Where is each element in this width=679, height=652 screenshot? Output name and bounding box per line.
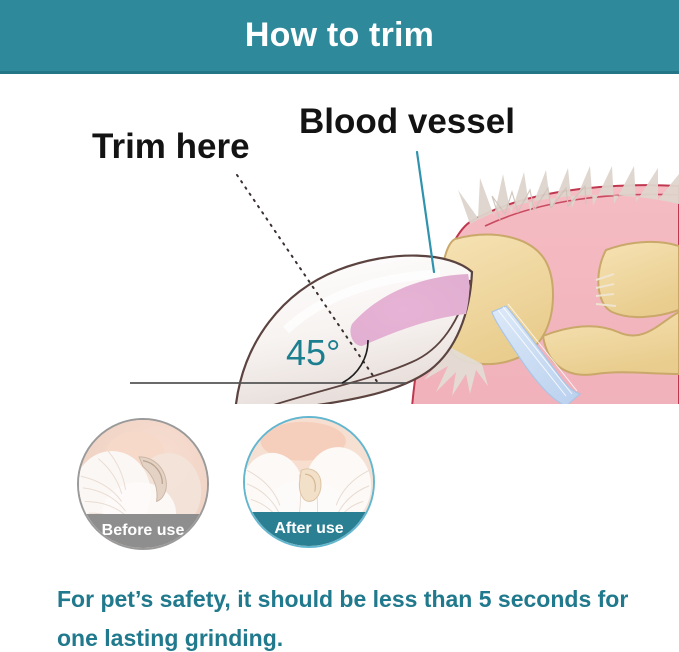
safety-note: For pet’s safety, it should be less than… — [57, 580, 657, 652]
angle-label: 45° — [286, 335, 340, 371]
after-use-caption: After use — [245, 512, 373, 546]
safety-note-line-1: For pet’s safety, it should be less than… — [57, 580, 657, 619]
safety-note-line-2: one lasting grinding. — [57, 619, 657, 652]
header-banner: How to trim — [0, 0, 679, 74]
after-use-photo: After use — [243, 416, 375, 548]
page-title: How to trim — [0, 0, 679, 71]
label-blood-vessel: Blood vessel — [299, 104, 515, 139]
trimmed-claw — [299, 469, 321, 502]
how-to-trim-infographic: How to trim — [0, 0, 679, 652]
label-trim-here: Trim here — [92, 129, 250, 164]
blood-vessel-pointer-line — [417, 152, 434, 272]
before-use-photo: Before use — [77, 418, 209, 550]
before-use-caption: Before use — [79, 514, 207, 548]
